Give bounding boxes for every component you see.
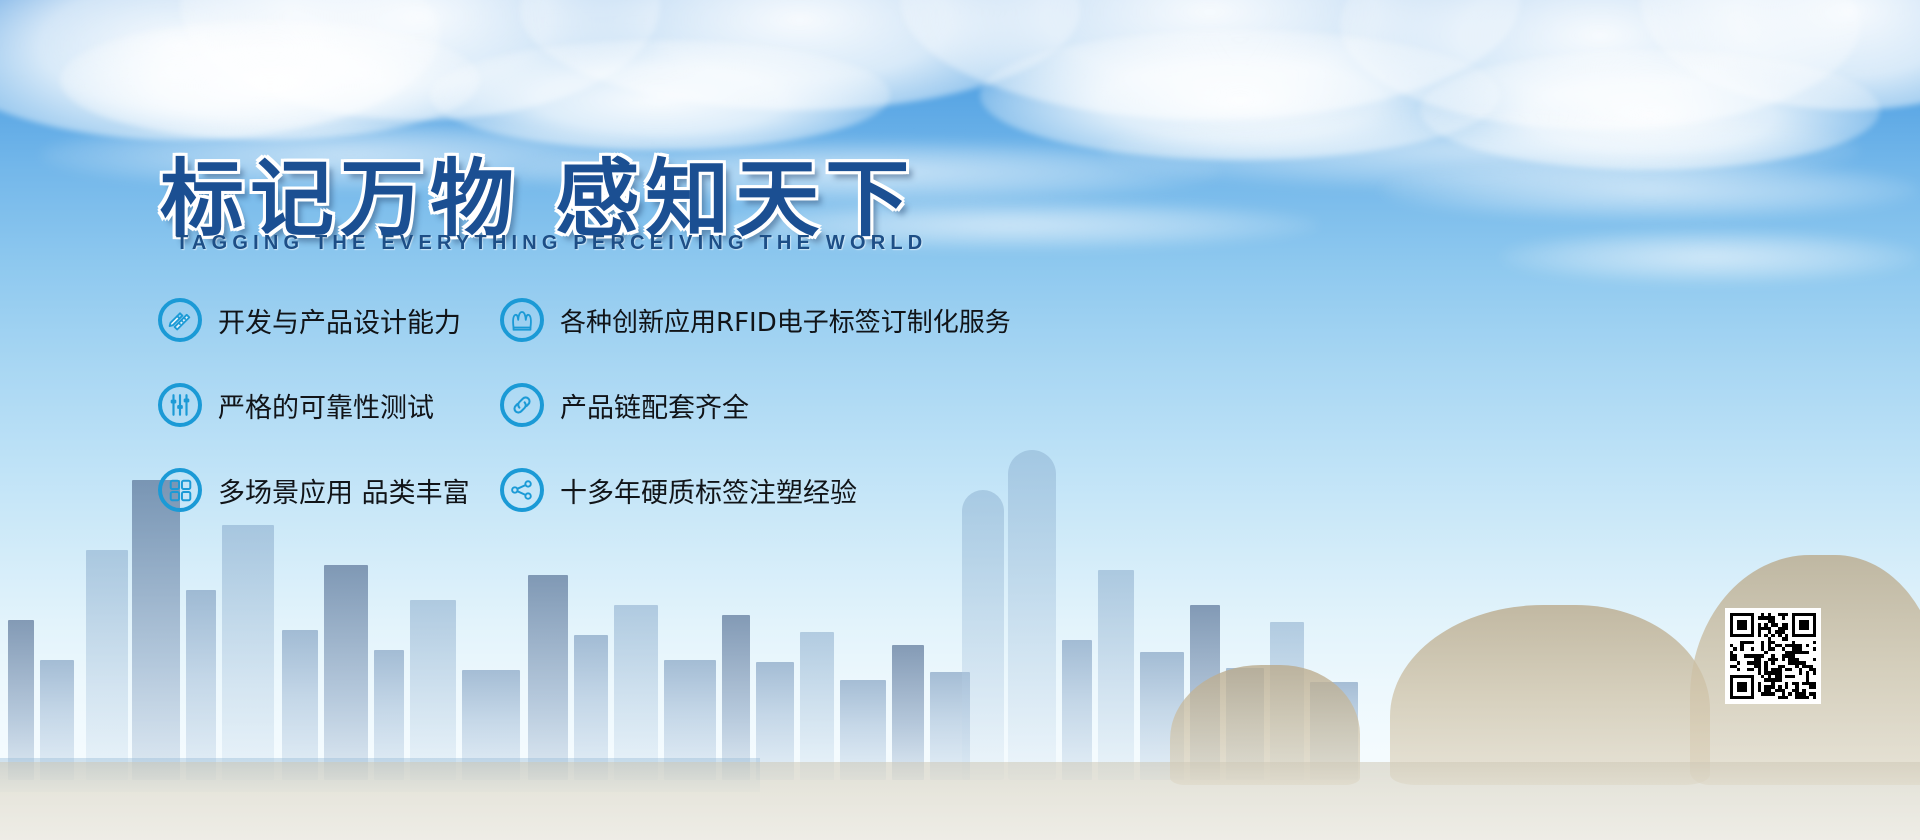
share-nodes-icon xyxy=(500,468,544,512)
promo-banner: 标记万物 感知天下 TAGGING THE EVERYTHING PERCEIV… xyxy=(0,0,1920,840)
feature-label: 多场景应用 品类丰富 xyxy=(218,471,470,510)
crown-icon xyxy=(500,298,544,342)
link-icon xyxy=(500,383,544,427)
feature-item: 多场景应用 品类丰富 xyxy=(158,458,470,522)
feature-column-left: 开发与产品设计能力 严格的可靠性测试 xyxy=(158,288,470,543)
feature-item: 各种创新应用RFID电子标签订制化服务 xyxy=(500,288,1011,352)
ruler-pencil-icon xyxy=(158,298,202,342)
feature-label: 各种创新应用RFID电子标签订制化服务 xyxy=(560,302,1011,339)
qr-code-pattern xyxy=(1730,613,1816,699)
feature-label: 开发与产品设计能力 xyxy=(218,301,461,340)
subheadline: TAGGING THE EVERYTHING PERCEIVING THE WO… xyxy=(176,232,927,255)
feature-item: 严格的可靠性测试 xyxy=(158,373,470,437)
grid-squares-icon xyxy=(158,468,202,512)
feature-label: 十多年硬质标签注塑经验 xyxy=(560,471,857,510)
feature-item: 产品链配套齐全 xyxy=(500,373,1011,437)
feature-column-right: 各种创新应用RFID电子标签订制化服务 产品链配套齐全 xyxy=(500,288,1011,543)
sliders-icon xyxy=(158,383,202,427)
feature-item: 十多年硬质标签注塑经验 xyxy=(500,458,1011,522)
qr-code[interactable] xyxy=(1725,608,1821,704)
feature-item: 开发与产品设计能力 xyxy=(158,288,470,352)
feature-label: 产品链配套齐全 xyxy=(560,386,749,425)
feature-label: 严格的可靠性测试 xyxy=(218,386,434,425)
